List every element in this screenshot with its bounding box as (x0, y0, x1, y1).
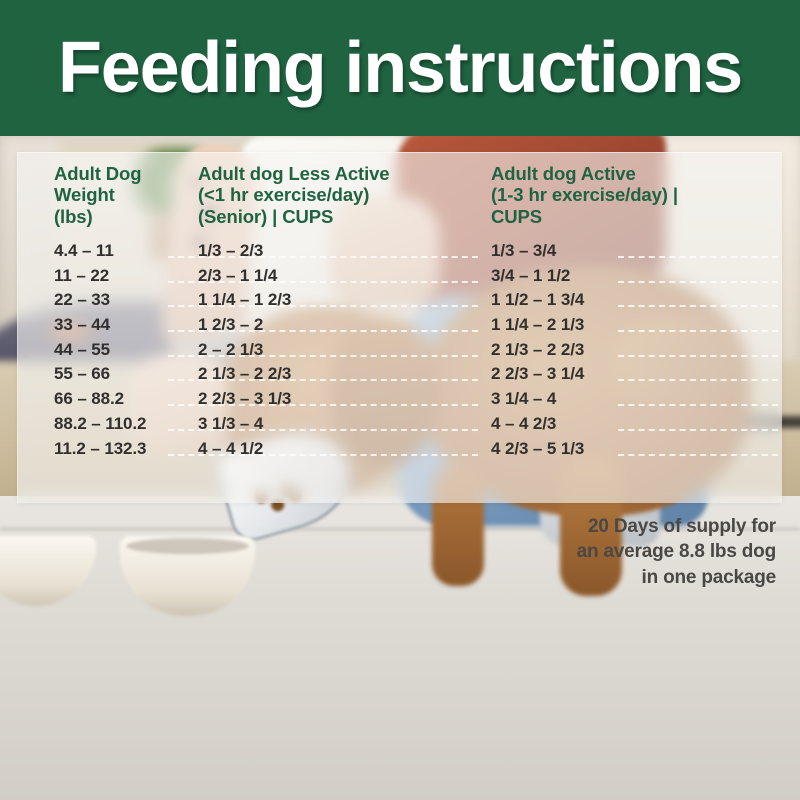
row-separator (618, 379, 778, 381)
cell-less-active: 2 2/3 – 3 1/3 (198, 389, 291, 409)
row-separator (168, 305, 478, 307)
cell-less-active: 4 – 4 1/2 (198, 439, 263, 459)
cell-weight: 33 – 44 (54, 315, 110, 335)
cell-less-active: 1 1/4 – 1 2/3 (198, 290, 291, 310)
table-row: 22 – 33 1 1/4 – 1 2/3 1 1/2 – 1 3/4 (18, 290, 782, 315)
row-separator (618, 454, 778, 456)
table-row: 33 – 44 1 2/3 – 2 1 1/4 – 2 1/3 (18, 315, 782, 340)
cell-active: 4 2/3 – 5 1/3 (491, 439, 584, 459)
cell-less-active: 2/3 – 1 1/4 (198, 266, 277, 286)
row-separator (618, 355, 778, 357)
cell-less-active: 3 1/3 – 4 (198, 414, 263, 434)
supply-note-line-1: 20 Days of supply for (476, 514, 776, 539)
cell-active: 3/4 – 1 1/2 (491, 266, 570, 286)
table-row: 66 – 88.2 2 2/3 – 3 1/3 3 1/4 – 4 (18, 389, 782, 414)
supply-note-line-3: in one package (476, 565, 776, 590)
cell-less-active: 1 2/3 – 2 (198, 315, 263, 335)
cell-weight: 88.2 – 110.2 (54, 414, 146, 434)
cell-active: 1 1/2 – 1 3/4 (491, 290, 584, 310)
cell-weight: 11.2 – 132.3 (54, 439, 146, 459)
row-separator (618, 281, 778, 283)
cell-weight: 22 – 33 (54, 290, 110, 310)
cell-less-active: 1/3 – 2/3 (198, 241, 263, 261)
row-separator (168, 281, 478, 283)
table-row: 11.2 – 132.3 4 – 4 1/2 4 2/3 – 5 1/3 (18, 439, 782, 464)
cell-active: 2 2/3 – 3 1/4 (491, 364, 584, 384)
row-separator (168, 330, 478, 332)
row-separator (168, 429, 478, 431)
cell-weight: 66 – 88.2 (54, 389, 124, 409)
cell-weight: 55 – 66 (54, 364, 110, 384)
cell-active: 1/3 – 3/4 (491, 241, 556, 261)
table-row: 4.4 – 11 1/3 – 2/3 1/3 – 3/4 (18, 241, 782, 266)
row-separator (618, 404, 778, 406)
cell-weight: 11 – 22 (54, 266, 109, 286)
table-row: 55 – 66 2 1/3 – 2 2/3 2 2/3 – 3 1/4 (18, 364, 782, 389)
cell-active: 3 1/4 – 4 (491, 389, 556, 409)
column-header-less-active: Adult dog Less Active (<1 hr exercise/da… (198, 163, 488, 227)
cell-weight: 4.4 – 11 (54, 241, 114, 261)
row-separator (168, 379, 478, 381)
row-separator (168, 256, 478, 258)
column-header-weight: Adult Dog Weight (lbs) (54, 163, 204, 227)
cell-weight: 44 – 55 (54, 340, 110, 360)
supply-note-line-2: an average 8.8 lbs dog (476, 539, 776, 564)
cell-less-active: 2 – 2 1/3 (198, 340, 263, 360)
row-separator (168, 454, 478, 456)
cell-active: 4 – 4 2/3 (491, 414, 556, 434)
row-separator (168, 404, 478, 406)
header-banner: Feeding instructions (0, 0, 800, 136)
page-title: Feeding instructions (58, 32, 742, 104)
cell-active: 1 1/4 – 2 1/3 (491, 315, 584, 335)
supply-note: 20 Days of supply for an average 8.8 lbs… (476, 514, 776, 590)
row-separator (618, 256, 778, 258)
cell-less-active: 2 1/3 – 2 2/3 (198, 364, 291, 384)
feeding-instructions-poster: Feeding instructions Adult Dog Weight (l… (0, 0, 800, 800)
row-separator (618, 330, 778, 332)
table-row: 11 – 22 2/3 – 1 1/4 3/4 – 1 1/2 (18, 266, 782, 291)
row-separator (618, 429, 778, 431)
table-header-row: Adult Dog Weight (lbs) Adult dog Less Ac… (18, 163, 782, 241)
table-row: 88.2 – 110.2 3 1/3 – 4 4 – 4 2/3 (18, 414, 782, 439)
feeding-table: Adult Dog Weight (lbs) Adult dog Less Ac… (17, 152, 782, 503)
row-separator (168, 355, 478, 357)
table-body: 4.4 – 11 1/3 – 2/3 1/3 – 3/4 11 – 22 2/3… (18, 241, 782, 463)
table-row: 44 – 55 2 – 2 1/3 2 1/3 – 2 2/3 (18, 340, 782, 365)
cell-active: 2 1/3 – 2 2/3 (491, 340, 584, 360)
row-separator (618, 305, 778, 307)
column-header-active: Adult dog Active (1-3 hr exercise/day) |… (491, 163, 781, 227)
